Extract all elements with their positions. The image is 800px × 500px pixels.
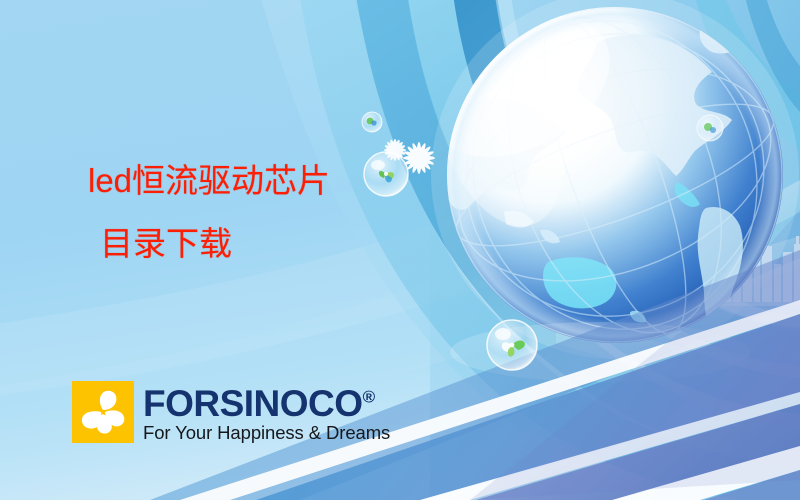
bubble-pinwheel-tiny	[697, 115, 723, 141]
logo-text-block: FORSINOCO® For Your Happiness & Dreams	[143, 381, 390, 442]
four-petal-flower-icon	[72, 381, 134, 443]
registered-trademark-symbol: ®	[363, 388, 375, 407]
company-logo: FORSINOCO® For Your Happiness & Dreams	[72, 381, 390, 443]
logo-tagline: For Your Happiness & Dreams	[143, 423, 390, 442]
banner-canvas: led恒流驱动芯片 目录下载 FORSINOCO® For Your Happi…	[0, 0, 800, 500]
logo-mark-tile	[72, 381, 134, 443]
logo-wordmark-text: FORSINOCO	[143, 383, 363, 424]
bubble-pinwheel-small	[362, 112, 382, 132]
bubble-pinwheel-large	[487, 320, 537, 370]
logo-wordmark: FORSINOCO®	[143, 387, 390, 421]
bubble-pinwheel-medium	[364, 152, 408, 196]
